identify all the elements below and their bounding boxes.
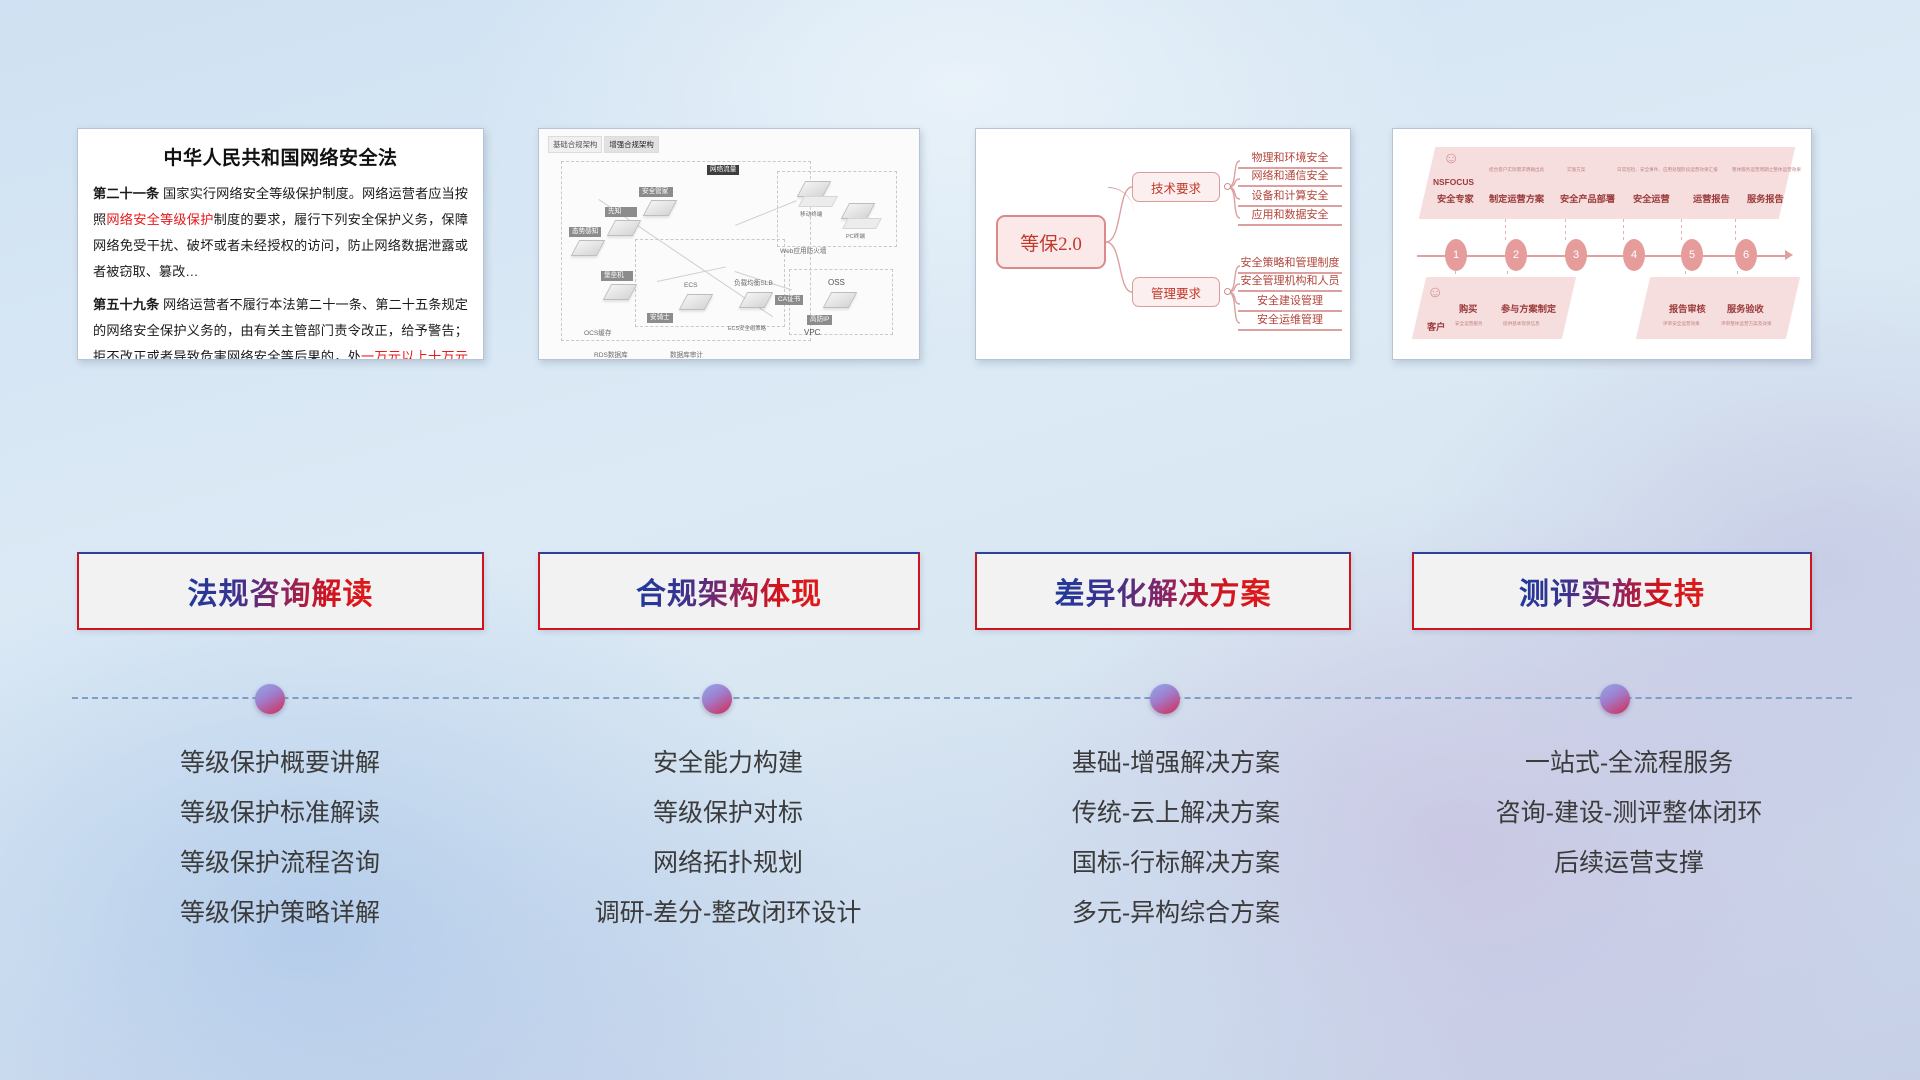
device-cube-icon: [841, 203, 876, 219]
storage-cube-icon: [823, 292, 858, 308]
mindmap-leaf: 安全运维管理: [1238, 311, 1342, 331]
heading-boxes-row: 法规咨询解读 合规架构体现 差异化解决方案 测评实施支持: [0, 552, 1920, 630]
mindmap-leaf: 安全建设管理: [1238, 292, 1342, 312]
detail-item: 后续运营支撑: [1404, 838, 1854, 888]
architecture-tabs[interactable]: 基础合规架构 增强合规架构: [548, 136, 659, 153]
architecture-node: 安全管家: [639, 187, 673, 216]
node-label: VPC: [801, 327, 823, 339]
device-plate-icon: [842, 218, 882, 229]
heading-label: 差异化解决方案: [1055, 569, 1272, 613]
architecture-node: ECS安全组策略: [725, 325, 769, 334]
timeline-step-node[interactable]: 6: [1735, 239, 1757, 271]
rail-dot-1[interactable]: [255, 684, 285, 714]
detail-column-solution: 基础-增强解决方案 传统-云上解决方案 国标-行标解决方案 多元-异构综合方案: [956, 738, 1396, 938]
detail-item: 咨询-建设-测评整体闭环: [1404, 788, 1854, 838]
detail-item: 等级保护流程咨询: [60, 838, 500, 888]
card-cybersecurity-law[interactable]: 中华人民共和国网络安全法 第二十一条 国家实行网络安全等级保护制度。网络运营者应…: [77, 128, 484, 360]
customer-step-sub: 评审整体运营方案及效果: [1721, 321, 1772, 327]
law-article-59: 第五十九条 网络运营者不履行本法第二十一条、第二十五条规定的网络安全保护义务的，…: [93, 292, 468, 360]
timeline-provider-banner: ☺ NSFOCUS 安全专家 结合客户实际需求明确出具 制定运营方案 实施方案 …: [1419, 147, 1796, 219]
architecture-zone-edge: [777, 171, 897, 247]
mindmap-leaf: 应用和数据安全: [1238, 206, 1342, 226]
mindmap-collapse-dot-technical[interactable]: [1224, 183, 1231, 190]
mindmap-root-node: 等保2.0: [996, 215, 1106, 269]
detail-item: 国标-行标解决方案: [956, 838, 1396, 888]
node-label: ECS: [681, 281, 709, 291]
step-sub: 结合客户实际需求明确出具: [1489, 167, 1544, 173]
mindmap-branch-management: 管理要求: [1132, 277, 1220, 307]
mindmap-branch-technical: 技术要求: [1132, 172, 1220, 202]
step-title: 制定运营方案: [1489, 191, 1544, 205]
architecture-node: CA证书: [775, 295, 803, 305]
server-cube-icon: [739, 292, 774, 308]
node-label: OCS缓存: [581, 329, 614, 339]
expert-person-icon: ☺: [1443, 151, 1459, 167]
node-label: 安全管家: [639, 187, 673, 197]
architecture-node: ECS: [681, 281, 709, 310]
detail-item: 安全能力构建: [508, 738, 948, 788]
timeline-tick: [1565, 219, 1566, 243]
step-title: 服务报告: [1747, 191, 1784, 205]
step-sub: 整体服务运营周期之整体运营效果: [1732, 167, 1801, 173]
timeline-tick: [1681, 219, 1682, 243]
node-label: 先知: [605, 207, 637, 217]
architecture-node: OCS缓存: [581, 329, 614, 339]
timeline-provider-banner-inner: ☺ NSFOCUS 安全专家 结合客户实际需求明确出具 制定运营方案 实施方案 …: [1427, 147, 1787, 219]
architecture-node: Web应用防火墙: [777, 247, 829, 257]
node-label: CA证书: [775, 295, 803, 305]
article-59-label: 第五十九条: [93, 297, 159, 312]
customer-step-title: 服务验收: [1727, 301, 1764, 315]
step-title: 安全产品部署: [1560, 191, 1615, 205]
heading-box-differentiated-solution[interactable]: 差异化解决方案: [975, 552, 1351, 630]
timeline-step-node[interactable]: 5: [1681, 239, 1703, 271]
timeline-axis: [1417, 255, 1789, 257]
detail-item: 基础-增强解决方案: [956, 738, 1396, 788]
timeline-arrow-icon: [1785, 250, 1793, 260]
detail-item: 调研-差分-整改闭环设计: [508, 888, 948, 938]
timeline-tick: [1735, 219, 1736, 243]
architecture-node: OSS: [825, 277, 853, 308]
device-plate-icon: [798, 196, 838, 207]
node-label: RDS数据库: [591, 351, 631, 360]
slide-root: 中华人民共和国网络安全法 第二十一条 国家实行网络安全等级保护制度。网络运营者应…: [0, 0, 1920, 1080]
tab-basic-architecture[interactable]: 基础合规架构: [548, 136, 602, 153]
heading-box-regulation-consulting[interactable]: 法规咨询解读: [77, 552, 484, 630]
service-timeline: ☺ NSFOCUS 安全专家 结合客户实际需求明确出具 制定运营方案 实施方案 …: [1393, 129, 1811, 359]
heading-box-compliance-architecture[interactable]: 合规架构体现: [538, 552, 920, 630]
customer-person-icon: ☺: [1427, 285, 1443, 301]
node-label: 堡垒机: [601, 271, 633, 281]
server-cube-icon: [607, 220, 642, 236]
timeline-step-node[interactable]: 4: [1623, 239, 1645, 271]
timeline-tick: [1623, 219, 1624, 243]
brand-line-2: 安全专家: [1437, 191, 1474, 205]
timeline-rail: [72, 697, 1852, 699]
heading-label: 法规咨询解读: [188, 569, 374, 613]
architecture-node: 移动终端: [801, 181, 835, 207]
heading-label: 合规架构体现: [636, 569, 822, 613]
customer-step-title: 报告审核: [1669, 301, 1706, 315]
architecture-node: PC终端: [845, 203, 879, 229]
detail-column-architecture: 安全能力构建 等级保护对标 网络拓扑规划 调研-差分-整改闭环设计: [508, 738, 948, 938]
architecture-node: VPC: [801, 327, 823, 339]
customer-step-title: 购买: [1459, 301, 1477, 315]
device-cube-icon: [797, 181, 832, 197]
detail-column-regulation: 等级保护概要讲解 等级保护标准解读 等级保护流程咨询 等级保护策略详解: [60, 738, 500, 938]
node-label: PC终端: [843, 233, 868, 242]
architecture-node: 态势感知: [569, 227, 601, 256]
brand-line-1: NSFOCUS: [1433, 177, 1474, 187]
card-nsfocus-service-timeline[interactable]: ☺ NSFOCUS 安全专家 结合客户实际需求明确出具 制定运营方案 实施方案 …: [1392, 128, 1812, 360]
architecture-node: 先知: [605, 207, 637, 236]
architecture-node: 数据库审计: [667, 351, 706, 360]
node-label: Web应用防火墙: [777, 247, 829, 257]
article-21-label: 第二十一条: [93, 186, 159, 201]
mindmap-leaf: 网络和通信安全: [1238, 167, 1342, 187]
preview-cards-row: 中华人民共和国网络安全法 第二十一条 国家实行网络安全等级保护制度。网络运营者应…: [0, 128, 1920, 360]
step-sub: 阶段运营效果汇报: [1681, 167, 1718, 173]
timeline-customer-banner-left-inner: ☺ 客户 购买 安全运营服务 参与方案制定 提供基本现状信息: [1419, 277, 1569, 339]
timeline-customer-banner-right: 报告审核 评审安全运营效果 服务验收 评审整体运营方案及效果: [1636, 277, 1800, 339]
timeline-step-node[interactable]: 2: [1505, 239, 1527, 271]
detail-item: 传统-云上解决方案: [956, 788, 1396, 838]
rail-dot-2[interactable]: [702, 684, 732, 714]
node-label: OSS: [825, 277, 853, 289]
architecture-node: 高防IP: [807, 315, 832, 325]
detail-item: 网络拓扑规划: [508, 838, 948, 888]
detail-item: 等级保护概要讲解: [60, 738, 500, 788]
law-article-21: 第二十一条 国家实行网络安全等级保护制度。网络运营者应当按照网络安全等级保护制度…: [93, 181, 468, 285]
architecture-node: 堡垒机: [601, 271, 633, 300]
server-cube-icon: [571, 240, 606, 256]
detail-item: 等级保护标准解读: [60, 788, 500, 838]
tab-enhanced-architecture[interactable]: 增强合规架构: [604, 136, 658, 153]
architecture-node: 安骑士: [647, 313, 673, 323]
timeline-customer-banner-right-inner: 报告审核 评审安全运营效果 服务验收 评审整体运营方案及效果: [1643, 277, 1793, 339]
timeline-step-node[interactable]: 3: [1565, 239, 1587, 271]
timeline-tick: [1505, 219, 1506, 243]
heading-box-assessment-support[interactable]: 测评实施支持: [1412, 552, 1812, 630]
rail-dot-3[interactable]: [1150, 684, 1180, 714]
customer-step-sub: 安全运营服务: [1455, 321, 1483, 327]
heading-label: 测评实施支持: [1519, 569, 1705, 613]
step-sub: 日常巡检、安全事件、应用处理: [1617, 167, 1681, 173]
step-sub: 实施方案: [1567, 167, 1585, 173]
node-label: 网络流量: [707, 165, 739, 175]
mindmap-leaf: 安全策略和管理制度: [1238, 254, 1342, 274]
architecture-diagram: 基础合规架构 增强合规架构 网络流量 安全管家: [539, 129, 919, 359]
mindmap-collapse-dot-management[interactable]: [1224, 288, 1231, 295]
customer-label: 客户: [1427, 319, 1445, 333]
customer-step-sub: 提供基本现状信息: [1503, 321, 1540, 327]
detail-item: 一站式-全流程服务: [1404, 738, 1854, 788]
detail-column-assessment: 一站式-全流程服务 咨询-建设-测评整体闭环 后续运营支撑: [1404, 738, 1854, 888]
node-label: ECS安全组策略: [725, 325, 769, 334]
customer-step-sub: 评审安全运营效果: [1663, 321, 1700, 327]
architecture-node: 网络流量: [707, 165, 739, 175]
node-label: 安骑士: [647, 313, 673, 323]
node-label: 态势感知: [569, 227, 601, 237]
law-title: 中华人民共和国网络安全法: [78, 143, 483, 170]
detail-item: 等级保护策略详解: [60, 888, 500, 938]
mindmap: 等保2.0 技术要求 管理要求 物理: [976, 129, 1350, 359]
node-label: 负载均衡SLB: [731, 279, 776, 289]
law-body: 第二十一条 国家实行网络安全等级保护制度。网络运营者应当按照网络安全等级保护制度…: [78, 181, 483, 360]
timeline-customer-banner-left: ☺ 客户 购买 安全运营服务 参与方案制定 提供基本现状信息: [1412, 277, 1576, 339]
mindmap-leaf: 物理和环境安全: [1238, 149, 1342, 169]
detail-item: 等级保护对标: [508, 788, 948, 838]
node-label: 移动终端: [797, 211, 825, 220]
mindmap-leaf: 安全管理机构和人员: [1238, 272, 1342, 292]
architecture-node: 负载均衡SLB: [731, 279, 776, 308]
node-label: 数据库审计: [667, 351, 706, 360]
article-21-highlight: 网络安全等级保护: [106, 212, 213, 227]
step-title: 运营报告: [1693, 191, 1730, 205]
mindmap-leaf: 设备和计算安全: [1238, 187, 1342, 207]
server-cube-icon: [679, 294, 714, 310]
server-cube-icon: [643, 200, 678, 216]
server-cube-icon: [603, 284, 638, 300]
card-cloud-architecture[interactable]: 基础合规架构 增强合规架构 网络流量 安全管家: [538, 128, 920, 360]
rail-dot-4[interactable]: [1600, 684, 1630, 714]
step-title: 安全运营: [1633, 191, 1670, 205]
mindmap-root-connector-top: [1108, 187, 1134, 245]
detail-item: 多元-异构综合方案: [956, 888, 1396, 938]
customer-step-title: 参与方案制定: [1501, 301, 1556, 315]
timeline-step-node[interactable]: 1: [1445, 239, 1467, 271]
architecture-node: RDS数据库: [591, 351, 631, 360]
node-label: 高防IP: [807, 315, 832, 325]
card-dengbao-mindmap[interactable]: 等保2.0 技术要求 管理要求 物理: [975, 128, 1351, 360]
